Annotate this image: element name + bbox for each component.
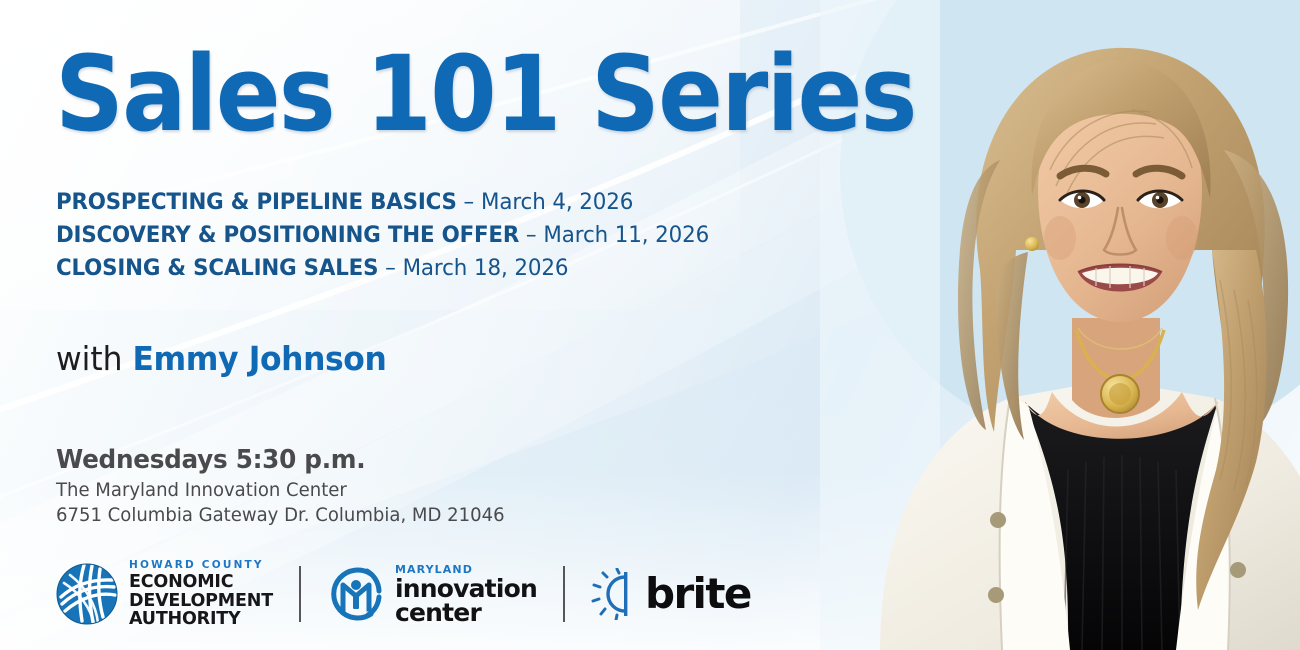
- venue-address: 6751 Columbia Gateway Dr. Columbia, MD 2…: [56, 503, 505, 528]
- circle-m-person-icon: [327, 565, 385, 623]
- blazer-button-2: [988, 587, 1004, 603]
- session-item: DISCOVERY & POSITIONING THE OFFER – Marc…: [56, 219, 709, 252]
- venue-name: The Maryland Innovation Center: [56, 478, 505, 503]
- session-name: DISCOVERY & POSITIONING THE OFFER: [56, 222, 519, 248]
- venue-block: Wednesdays 5:30 p.m. The Maryland Innova…: [56, 442, 528, 528]
- cheek-right: [1166, 216, 1198, 260]
- eda-eyebrow: HOWARD COUNTY: [129, 560, 273, 571]
- mic-line-2: center: [395, 601, 537, 625]
- session-name: CLOSING & SCALING SALES: [56, 255, 378, 281]
- mic-line-1: innovation: [395, 577, 537, 601]
- session-dash: –: [463, 189, 474, 215]
- event-schedule: Wednesdays 5:30 p.m.: [56, 442, 505, 478]
- session-name: PROSPECTING & PIPELINE BASICS: [56, 189, 457, 215]
- blazer-button-3: [1230, 562, 1246, 578]
- earring: [1025, 237, 1039, 251]
- session-dash: –: [526, 222, 537, 248]
- logo-brite[interactable]: brite: [591, 568, 751, 620]
- session-date: March 4, 2026: [481, 189, 633, 215]
- event-poster: Sales 101 Series PROSPECTING & PIPELINE …: [0, 0, 1300, 650]
- page-title: Sales 101 Series: [55, 42, 916, 146]
- speaker-prefix: with: [56, 339, 123, 378]
- session-item: CLOSING & SCALING SALES – March 18, 2026: [56, 252, 709, 285]
- globe-swirl-icon: [56, 563, 118, 625]
- session-dash: –: [385, 255, 396, 281]
- logo-divider-2: [563, 566, 565, 622]
- session-date: March 18, 2026: [403, 255, 569, 281]
- blazer-button-1: [990, 512, 1006, 528]
- poster-content: Sales 101 Series PROSPECTING & PIPELINE …: [0, 0, 900, 650]
- logo-divider-1: [299, 566, 301, 622]
- speaker-line: with Emmy Johnson: [56, 337, 386, 381]
- session-list: PROSPECTING & PIPELINE BASICS – March 4,…: [56, 186, 744, 285]
- half-sun-icon: [591, 568, 641, 620]
- logo-maryland-innovation-center[interactable]: MARYLAND innovation center: [327, 564, 537, 625]
- eda-line-1: ECONOMIC: [129, 573, 273, 592]
- speaker-name: Emmy Johnson: [132, 339, 386, 378]
- sponsor-logo-bar: HOWARD COUNTY ECONOMIC DEVELOPMENT AUTHO…: [0, 538, 900, 650]
- cheek-left: [1044, 216, 1076, 260]
- session-date: March 11, 2026: [543, 222, 709, 248]
- eda-wordmark: HOWARD COUNTY ECONOMIC DEVELOPMENT AUTHO…: [129, 560, 273, 629]
- mic-eyebrow: MARYLAND: [395, 564, 537, 575]
- brite-wordmark: brite: [645, 573, 751, 615]
- session-item: PROSPECTING & PIPELINE BASICS – March 4,…: [56, 186, 709, 219]
- logo-howard-county-eda[interactable]: HOWARD COUNTY ECONOMIC DEVELOPMENT AUTHO…: [56, 560, 273, 629]
- eda-line-2: DEVELOPMENT: [129, 592, 273, 611]
- mic-wordmark: MARYLAND innovation center: [395, 564, 537, 625]
- eda-line-3: AUTHORITY: [129, 610, 273, 629]
